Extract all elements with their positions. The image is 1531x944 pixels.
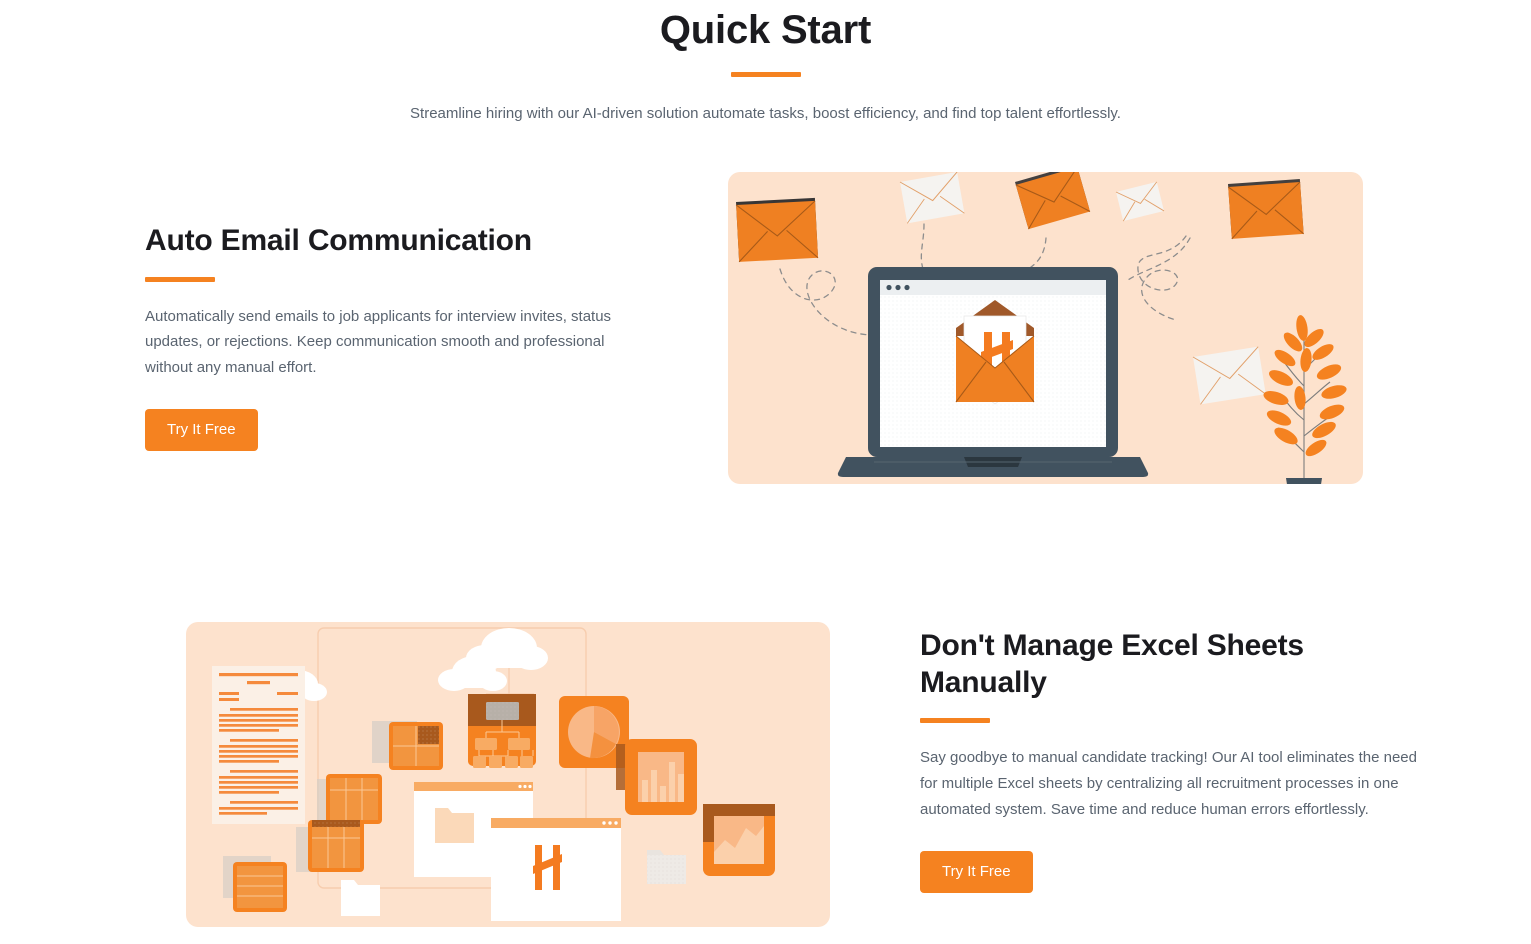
illustration-auto-email xyxy=(728,172,1363,484)
try-it-free-button-2[interactable]: Try It Free xyxy=(920,851,1033,893)
feature-section-auto-email: Auto Email Communication Automatically s… xyxy=(0,160,1531,505)
illustration-excel-sheets xyxy=(186,622,830,927)
try-it-free-button-1[interactable]: Try It Free xyxy=(145,409,258,451)
title-accent-bar xyxy=(731,72,801,77)
page-header: Quick Start Streamline hiring with our A… xyxy=(0,0,1531,126)
page-title: Quick Start xyxy=(0,8,1531,52)
feature-body-2: Say goodbye to manual candidate tracking… xyxy=(920,745,1420,822)
feature-text-block-1: Auto Email Communication Automatically s… xyxy=(145,223,645,451)
feature-section-excel-sheets: Don't Manage Excel Sheets Manually Say g… xyxy=(0,600,1531,944)
feature-title-2: Don't Manage Excel Sheets Manually xyxy=(920,628,1420,701)
feature-accent-bar-2 xyxy=(920,718,990,723)
feature-text-block-2: Don't Manage Excel Sheets Manually Say g… xyxy=(920,628,1420,893)
page-subtitle: Streamline hiring with our AI-driven sol… xyxy=(0,103,1531,126)
quick-start-page: Quick Start Streamline hiring with our A… xyxy=(0,0,1531,944)
feature-title-1: Auto Email Communication xyxy=(145,223,645,260)
feature-body-1: Automatically send emails to job applica… xyxy=(145,304,645,381)
feature-accent-bar-1 xyxy=(145,277,215,282)
